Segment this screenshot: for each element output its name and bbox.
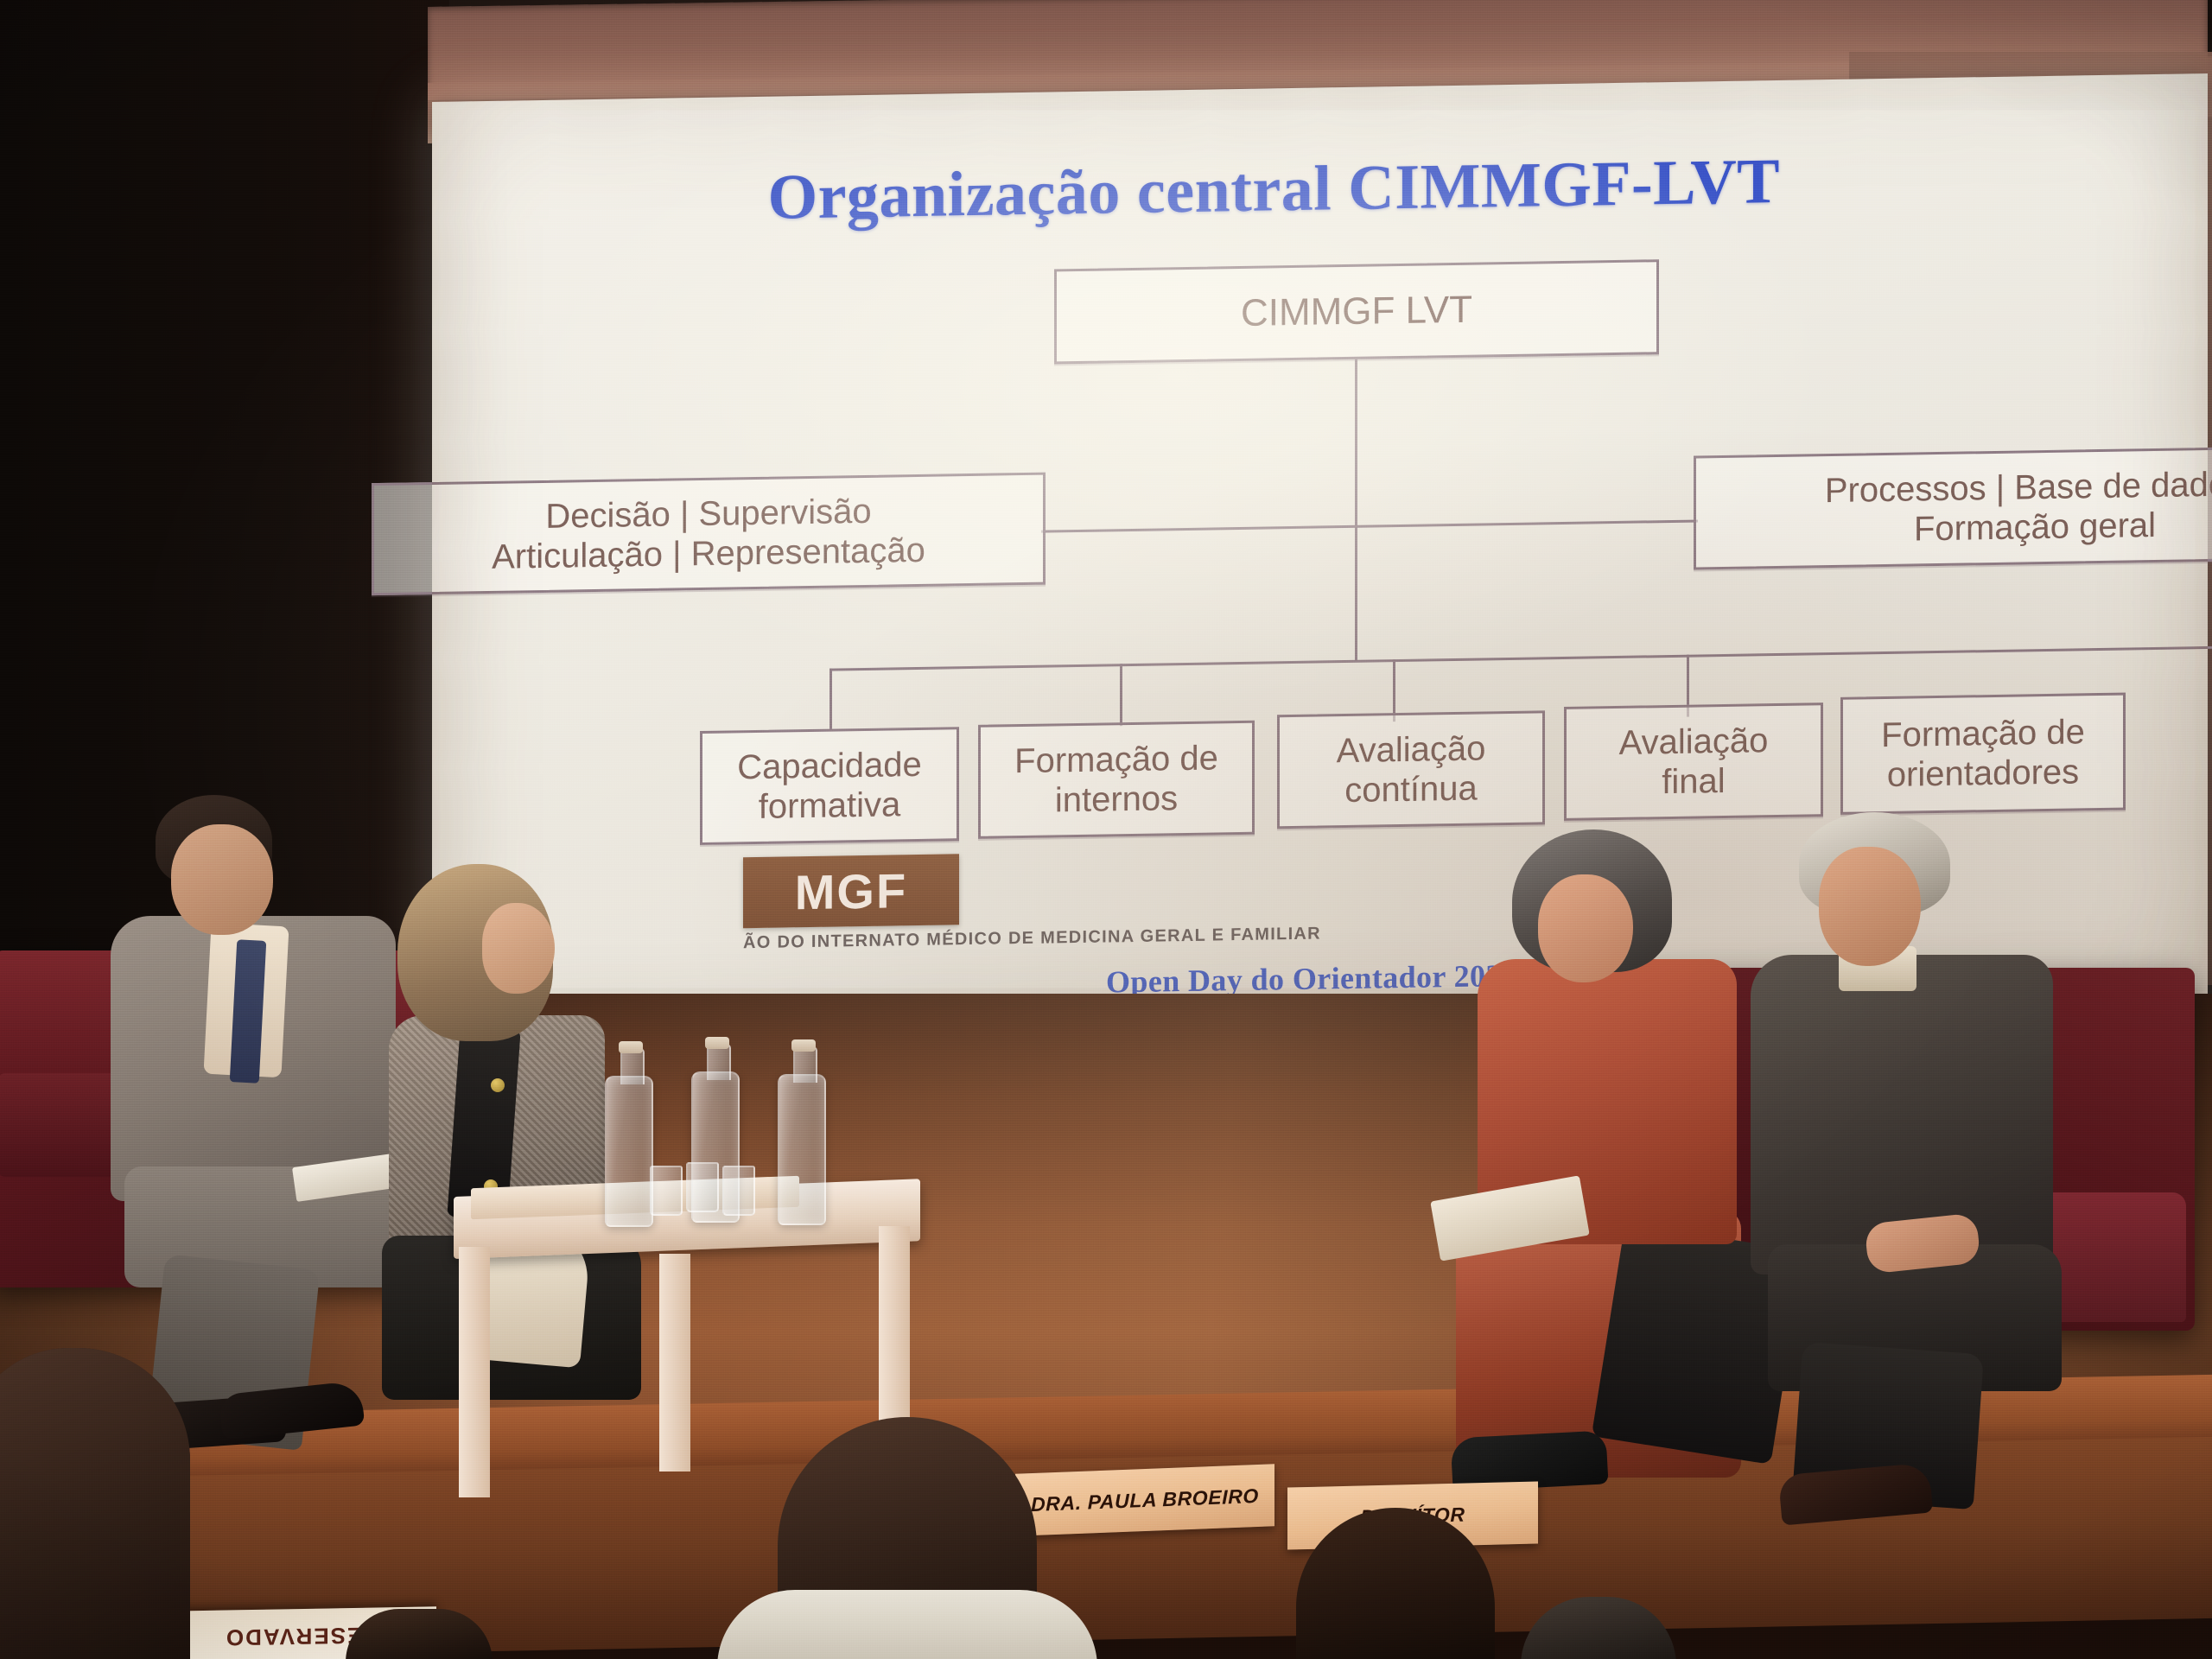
placard-1-text: DRA. PAULA BROEIRO <box>1031 1484 1259 1516</box>
audience-head-1 <box>0 1348 190 1659</box>
org-edge-level3-bus <box>829 645 2212 671</box>
org-node-left: Decisão | Supervisão Articulação | Repre… <box>372 473 1046 596</box>
glass-2 <box>686 1162 719 1212</box>
drinking-glasses <box>650 1162 762 1216</box>
face <box>1819 847 1921 966</box>
org-node-c3-line1: Avaliação <box>1337 728 1486 771</box>
org-edge-drop-1 <box>829 669 832 731</box>
org-node-capacidade-formativa: Capacidade formativa <box>700 727 959 845</box>
glass-3 <box>722 1166 755 1216</box>
org-edge-drop-2 <box>1120 664 1122 726</box>
glass-1 <box>650 1166 683 1216</box>
panelist-man-grey-coat <box>1745 812 2117 1495</box>
org-node-right: Processos | Base de dados Formação geral <box>1694 445 2212 570</box>
org-node-c2-line2: internos <box>1055 779 1178 821</box>
water-bottle-1 <box>605 1076 653 1227</box>
org-node-c4-line1: Avaliação <box>1619 721 1769 763</box>
org-node-root: CIMMGF LVT <box>1054 259 1659 364</box>
gold-button-upper <box>491 1078 505 1092</box>
table-leg-front-left <box>459 1247 490 1497</box>
org-node-c1-line1: Capacidade <box>737 745 922 788</box>
face <box>482 903 555 994</box>
org-edge-root-trunk <box>1355 359 1357 662</box>
org-chart-diagram: CIMMGF LVT Decisão | Supervisão Articula… <box>397 245 2065 859</box>
org-edge-level2-bus <box>1041 519 1698 532</box>
face <box>1538 874 1633 982</box>
slide-logo: MGF ÃO DO INTERNATO MÉDICO DE MEDICINA G… <box>743 848 1365 954</box>
table-leg-back <box>659 1254 690 1471</box>
org-node-c3-line2: contínua <box>1344 769 1477 811</box>
name-placard-paula-broeiro: DRA. PAULA BROEIRO <box>1015 1464 1274 1536</box>
org-node-right-line2: Formação geral <box>1914 505 2156 550</box>
org-node-avaliacao-continua: Avaliação contínua <box>1277 710 1545 829</box>
auditorium-scene: Organização central CIMMGF-LVT CIMMGF LV… <box>0 0 2212 1659</box>
mgf-logo-mark: MGF <box>743 854 959 928</box>
face <box>171 824 273 935</box>
org-node-formacao-internos: Formação de internos <box>978 721 1255 839</box>
slide-title: Organização central CIMMGF-LVT <box>328 145 1780 242</box>
audience-hair-1 <box>0 1348 190 1659</box>
org-node-c4-line2: final <box>1662 761 1725 803</box>
org-node-right-line1: Processos | Base de dados <box>1825 464 2212 511</box>
org-node-c1-line2: formativa <box>759 785 901 827</box>
org-node-left-line2: Articulação | Representação <box>492 531 925 577</box>
mgf-logo-tagline: ÃO DO INTERNATO MÉDICO DE MEDICINA GERAL… <box>743 924 1365 954</box>
org-node-c2-line1: Formação de <box>1014 738 1218 781</box>
org-node-formacao-orientadores: Formação de orientadores <box>1840 693 2126 815</box>
org-node-c5-line2: orientadores <box>1887 752 2079 795</box>
org-node-avaliacao-final: Avaliação final <box>1564 702 1823 821</box>
org-node-left-line1: Decisão | Supervisão <box>545 491 871 536</box>
audience-shirt-2 <box>717 1590 1097 1659</box>
water-bottle-3 <box>778 1074 826 1225</box>
org-node-c5-line1: Formação de <box>1881 712 2085 755</box>
audience-head-2 <box>778 1417 1037 1659</box>
